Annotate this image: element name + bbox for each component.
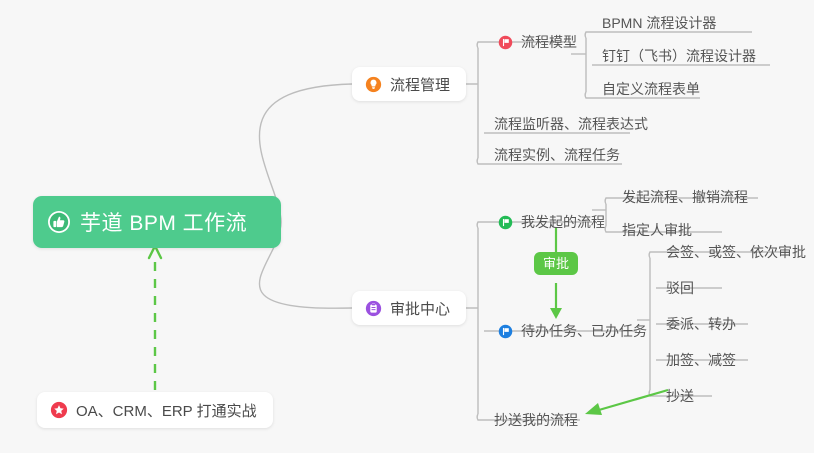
node-label: 钉钉（飞书）流程设计器 [602, 46, 756, 66]
node-add-remove-sign[interactable]: 加签、减签 [662, 345, 744, 375]
root-node[interactable]: 芋道 BPM 工作流 [33, 196, 281, 248]
node-label: OA、CRM、ERP 打通实战 [76, 400, 257, 421]
link-todo-bracket-top [649, 252, 656, 258]
link-model-bracket-bottom [585, 92, 592, 98]
root-label: 芋道 BPM 工作流 [80, 207, 247, 237]
node-label: 流程模型 [521, 32, 577, 52]
flag-icon [498, 35, 513, 50]
thumbs-up-icon [47, 210, 71, 234]
node-countersign[interactable]: 会签、或签、依次审批 [662, 237, 814, 267]
lightbulb-icon [365, 76, 382, 93]
link-ac-bracket-bottom [477, 414, 484, 420]
node-label: 抄送我的流程 [494, 410, 578, 430]
node-label: 抄送 [666, 386, 694, 406]
branch-label: 流程管理 [390, 74, 450, 95]
node-custom-form[interactable]: 自定义流程表单 [598, 74, 708, 104]
link-pm-bracket-bottom [477, 158, 484, 164]
node-label: 流程监听器、流程表达式 [494, 114, 648, 134]
link-ac-bracket-top [477, 222, 484, 228]
node-dingtalk-designer[interactable]: 钉钉（飞书）流程设计器 [598, 41, 764, 71]
node-reject[interactable]: 驳回 [662, 273, 702, 303]
node-label: 加签、减签 [666, 350, 736, 370]
branch-process-management[interactable]: 流程管理 [352, 67, 466, 101]
node-start-cancel-process[interactable]: 发起流程、撤销流程 [618, 182, 756, 212]
node-cc-to-me[interactable]: 抄送我的流程 [490, 405, 586, 435]
flag-icon [498, 215, 513, 230]
node-delegate-transfer[interactable]: 委派、转办 [662, 309, 744, 339]
node-bpmn-designer[interactable]: BPMN 流程设计器 [598, 8, 724, 38]
cc-arrow-line [592, 390, 668, 412]
approval-annotation-badge: 审批 [534, 252, 578, 275]
branch-approval-center[interactable]: 审批中心 [352, 291, 466, 325]
star-icon [50, 401, 68, 419]
branch-label: 审批中心 [390, 298, 450, 319]
clipboard-icon [365, 300, 382, 317]
node-label: 驳回 [666, 278, 694, 298]
node-label: 发起流程、撤销流程 [622, 187, 748, 207]
node-integration-practice[interactable]: OA、CRM、ERP 打通实战 [37, 392, 273, 428]
node-label: 委派、转办 [666, 314, 736, 334]
node-label: 流程实例、流程任务 [494, 145, 620, 165]
node-label: 会签、或签、依次审批 [666, 242, 806, 262]
node-label: 自定义流程表单 [602, 79, 700, 99]
node-label: BPMN 流程设计器 [602, 13, 716, 33]
cc-arrow-head [585, 403, 602, 415]
link-mine-bracket-top [605, 198, 612, 204]
node-label: 待办任务、已办任务 [521, 321, 647, 341]
node-todo-done-tasks[interactable]: 待办任务、已办任务 [494, 316, 655, 346]
link-pm-bracket-top [477, 42, 484, 48]
node-my-initiated-processes[interactable]: 我发起的流程 [494, 207, 613, 237]
node-cc[interactable]: 抄送 [662, 381, 702, 411]
node-process-model[interactable]: 流程模型 [494, 27, 585, 57]
node-instance-task[interactable]: 流程实例、流程任务 [490, 140, 628, 170]
link-todo-bracket-bottom [649, 390, 656, 396]
mindmap-canvas: 芋道 BPM 工作流 流程管理 流程模型 BPMN 流程设计器 钉钉（飞书）流程 [0, 0, 814, 453]
node-label: 我发起的流程 [521, 212, 605, 232]
link-model-bracket-top [585, 32, 592, 38]
flag-icon [498, 324, 513, 339]
node-listener-expression[interactable]: 流程监听器、流程表达式 [490, 109, 656, 139]
badge-label: 审批 [543, 256, 569, 271]
